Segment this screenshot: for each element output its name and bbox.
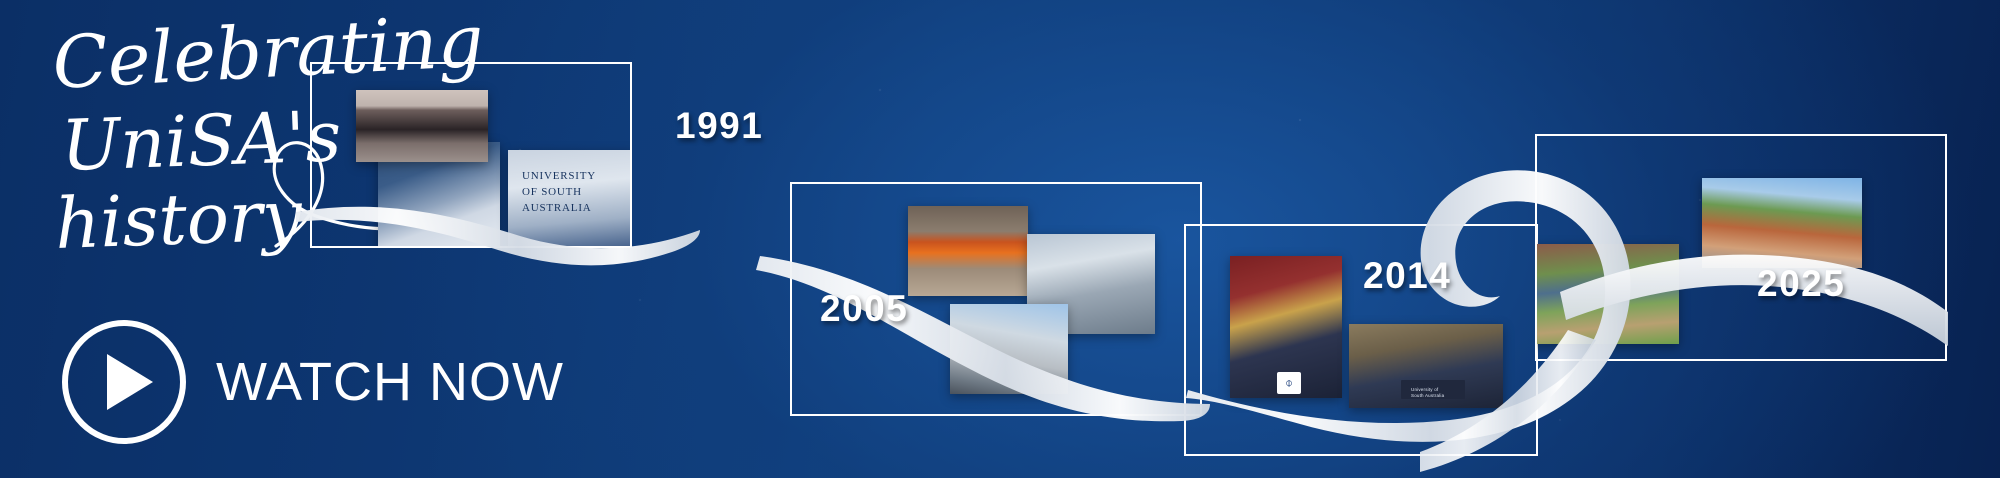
university-of-south-australia-signboard-photo: UNIVERSITY OF SOUTH AUSTRALIA [508,150,630,246]
headline-line-3: history [54,174,305,265]
timeline-card-2014-content: ⌽ University of South Australia [1186,226,1536,454]
timeline-year-2005: 2005 [820,288,908,330]
timeline-card-1991[interactable]: UNIVERSITY OF SOUTH AUSTRALIA [310,62,632,248]
watch-now-label: WATCH NOW [216,355,564,409]
sign-text-line-3: AUSTRALIA [522,200,592,217]
timeline-card-2025-content [1537,136,1945,359]
groundbreaking-shovels-photo [1537,244,1679,344]
lectern-text-line-1: University of [1411,387,1438,392]
timeline-card-2014[interactable]: ⌽ University of South Australia [1184,224,1538,456]
graduation-balcony-ceremony-photo [356,90,488,162]
play-button-icon[interactable] [62,320,186,444]
timeline-year-2014: 2014 [1363,255,1451,297]
lectern-text-line-2: South Australia [1411,393,1444,398]
angular-tower-building-photo [950,304,1068,394]
sign-text-line-1: UNIVERSITY [522,168,596,185]
timeline-year-2025: 2025 [1757,263,1845,305]
headline-line-2: UniSA's [60,95,343,187]
unisa-history-banner: Celebrating UniSA's history WATCH NOW UN… [0,0,2000,478]
timeline-card-2025[interactable] [1535,134,1947,361]
watch-now-button[interactable]: WATCH NOW [62,320,564,444]
timeline-year-1991: 1991 [675,105,763,147]
unisa-logo-icon: ⌽ [1277,372,1301,394]
timeline-card-1991-content: UNIVERSITY OF SOUTH AUSTRALIA [312,64,630,246]
agreement-signing-ceremony-photo: ⌽ [1230,256,1342,398]
construction-crew-hi-vis-photo [908,206,1028,296]
lectern-speech-photo: University of South Australia [1349,324,1503,408]
campus-architectural-render-photo [1702,178,1862,268]
sign-text-line-2: OF SOUTH [522,184,582,201]
play-triangle-icon [107,354,153,410]
